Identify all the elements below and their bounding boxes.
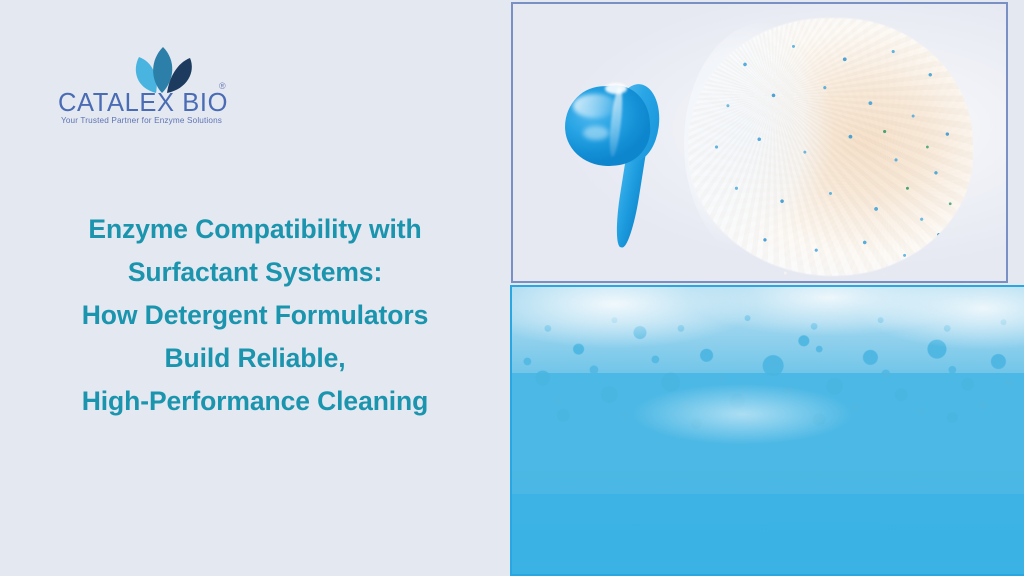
foam-scene bbox=[512, 287, 1024, 574]
three-leaf-icon bbox=[126, 44, 200, 94]
headline-line-5: High-Performance Cleaning bbox=[30, 380, 480, 423]
detergent-powder-image bbox=[511, 2, 1008, 283]
headline-line-2: Surfactant Systems: bbox=[30, 251, 480, 294]
page-title: Enzyme Compatibility with Surfactant Sys… bbox=[30, 208, 480, 423]
headline-line-3: How Detergent Formulators bbox=[30, 294, 480, 337]
powder-scene bbox=[513, 4, 1006, 281]
foam-bubbles-fine bbox=[512, 287, 1024, 494]
scoop-highlight bbox=[573, 94, 617, 118]
headline-line-1: Enzyme Compatibility with bbox=[30, 208, 480, 251]
logo-tagline: Your Trusted Partner for Enzyme Solution… bbox=[61, 116, 241, 126]
registered-trademark-icon: ® bbox=[219, 82, 226, 91]
detergent-powder-pile bbox=[688, 18, 973, 276]
scoop-highlight-secondary bbox=[583, 126, 609, 140]
brand-logo[interactable]: CATALEX BIO ® Your Trusted Partner for E… bbox=[58, 44, 238, 134]
text-column: CATALEX BIO ® Your Trusted Partner for E… bbox=[0, 0, 510, 576]
logo-wordmark: CATALEX BIO bbox=[58, 88, 238, 118]
measuring-scoop bbox=[565, 86, 665, 251]
scoop-powder-residue bbox=[605, 83, 627, 94]
powder-texture bbox=[688, 18, 973, 276]
soap-foam-image bbox=[510, 285, 1024, 576]
headline-line-4: Build Reliable, bbox=[30, 337, 480, 380]
promo-banner: CATALEX BIO ® Your Trusted Partner for E… bbox=[0, 0, 1024, 576]
